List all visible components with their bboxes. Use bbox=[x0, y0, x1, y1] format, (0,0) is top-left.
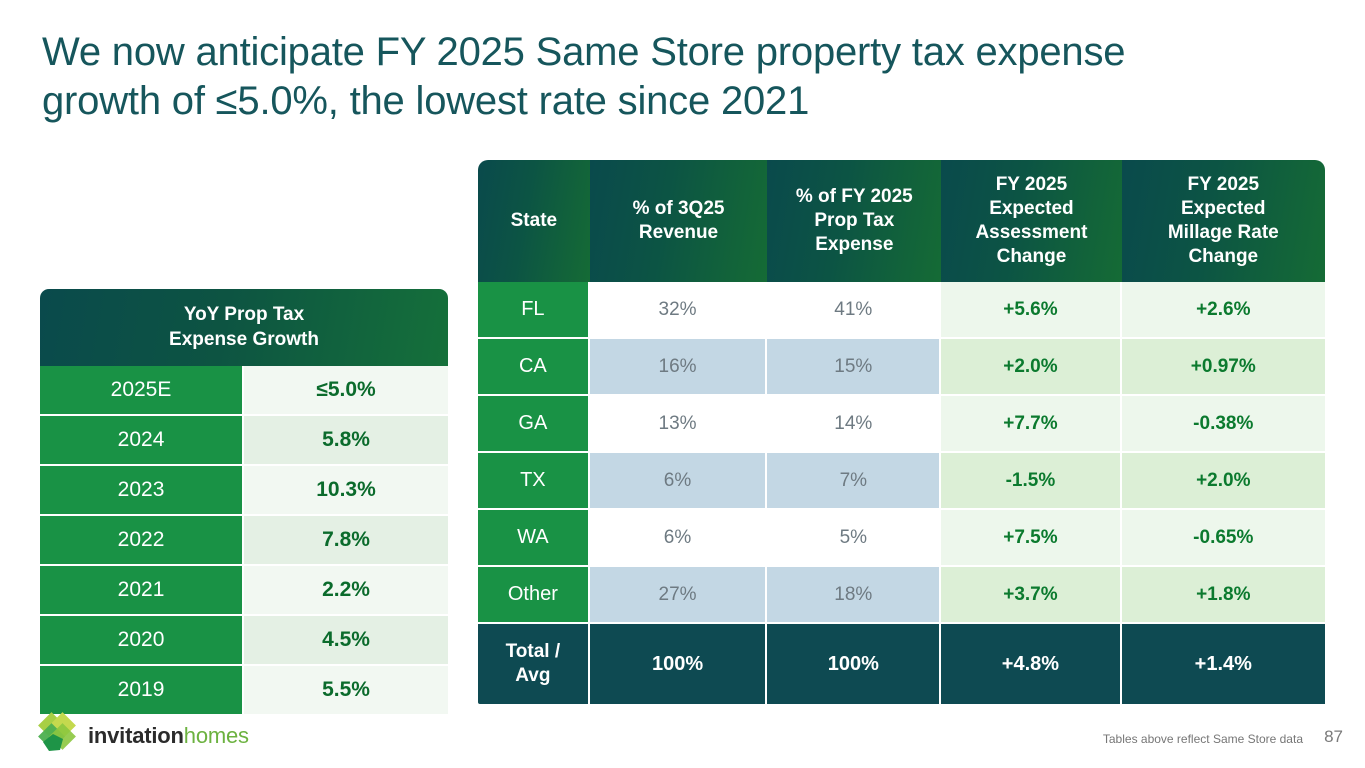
expense-cell: 18% bbox=[767, 567, 941, 624]
assessment-change-cell: +2.0% bbox=[941, 339, 1121, 396]
assessment-change-cell: +7.5% bbox=[941, 510, 1121, 567]
column-header-assessment-line-1: FY 2025 bbox=[947, 173, 1115, 197]
yoy-year-cell: 2024 bbox=[40, 416, 244, 466]
column-header-millage-line-1: FY 2025 bbox=[1128, 173, 1319, 197]
yoy-year-cell: 2020 bbox=[40, 616, 244, 666]
millage-change-cell: +2.6% bbox=[1122, 282, 1325, 339]
yoy-value-cell: 4.5% bbox=[244, 616, 448, 666]
state-cell: CA bbox=[478, 339, 590, 396]
state-prop-tax-table: State % of 3Q25 Revenue % of FY 2025 Pro… bbox=[478, 160, 1325, 704]
column-header-expense-line-2: Prop Tax bbox=[773, 209, 935, 233]
logo-word-homes: homes bbox=[184, 723, 249, 748]
yoy-year-cell: 2025E bbox=[40, 366, 244, 416]
yoy-year-cell: 2022 bbox=[40, 516, 244, 566]
state-cell: TX bbox=[478, 453, 590, 510]
column-header-revenue-line-2: Revenue bbox=[596, 221, 762, 245]
table-row: FL 32% 41% +5.6% +2.6% bbox=[478, 282, 1325, 339]
page-number: 87 bbox=[1324, 727, 1343, 747]
table-row: 2019 5.5% bbox=[40, 666, 448, 714]
total-expense-cell: 100% bbox=[767, 624, 941, 704]
yoy-prop-tax-table: YoY Prop Tax Expense Growth 2025E ≤5.0% … bbox=[40, 289, 448, 714]
column-header-assessment-line-2: Expected bbox=[947, 197, 1115, 221]
millage-change-cell: +0.97% bbox=[1122, 339, 1325, 396]
table-row: GA 13% 14% +7.7% -0.38% bbox=[478, 396, 1325, 453]
table-row: CA 16% 15% +2.0% +0.97% bbox=[478, 339, 1325, 396]
yoy-year-cell: 2021 bbox=[40, 566, 244, 616]
millage-change-cell: -0.65% bbox=[1122, 510, 1325, 567]
assessment-change-cell: -1.5% bbox=[941, 453, 1121, 510]
millage-change-cell: +1.8% bbox=[1122, 567, 1325, 624]
yoy-year-cell: 2019 bbox=[40, 666, 244, 714]
assessment-change-cell: +7.7% bbox=[941, 396, 1121, 453]
yoy-value-cell: 5.8% bbox=[244, 416, 448, 466]
column-header-assessment-change: FY 2025 Expected Assessment Change bbox=[941, 160, 1121, 282]
total-assessment-cell: +4.8% bbox=[941, 624, 1121, 704]
footnote: Tables above reflect Same Store data bbox=[1103, 732, 1303, 746]
yoy-year-cell: 2023 bbox=[40, 466, 244, 516]
page-title: We now anticipate FY 2025 Same Store pro… bbox=[42, 28, 1272, 126]
yoy-table-header: YoY Prop Tax Expense Growth bbox=[40, 289, 448, 366]
total-revenue-cell: 100% bbox=[590, 624, 768, 704]
table-row: 2022 7.8% bbox=[40, 516, 448, 566]
revenue-cell: 6% bbox=[590, 453, 768, 510]
total-label-line-1: Total / bbox=[479, 640, 587, 664]
millage-change-cell: -0.38% bbox=[1122, 396, 1325, 453]
state-cell: FL bbox=[478, 282, 590, 339]
column-header-assessment-line-3: Assessment bbox=[947, 221, 1115, 245]
table-row: Other 27% 18% +3.7% +1.8% bbox=[478, 567, 1325, 624]
table-row: 2024 5.8% bbox=[40, 416, 448, 466]
revenue-cell: 6% bbox=[590, 510, 768, 567]
column-header-assessment-line-4: Change bbox=[947, 245, 1115, 269]
table-header-row: YoY Prop Tax Expense Growth bbox=[40, 289, 448, 366]
column-header-millage-line-3: Millage Rate bbox=[1128, 221, 1319, 245]
revenue-cell: 16% bbox=[590, 339, 768, 396]
yoy-value-cell: ≤5.0% bbox=[244, 366, 448, 416]
state-cell: Other bbox=[478, 567, 590, 624]
yoy-value-cell: 5.5% bbox=[244, 666, 448, 714]
table-header-row: State % of 3Q25 Revenue % of FY 2025 Pro… bbox=[478, 160, 1325, 282]
table-row: 2020 4.5% bbox=[40, 616, 448, 666]
company-logo: invitationhomes bbox=[32, 712, 249, 760]
yoy-table-body: 2025E ≤5.0% 2024 5.8% 2023 10.3% 2022 7.… bbox=[40, 366, 448, 714]
yoy-value-cell: 2.2% bbox=[244, 566, 448, 616]
revenue-cell: 13% bbox=[590, 396, 768, 453]
column-header-revenue-line-1: % of 3Q25 bbox=[596, 197, 762, 221]
table-total-row: Total / Avg 100% 100% +4.8% +1.4% bbox=[478, 624, 1325, 704]
logo-wordmark: invitationhomes bbox=[88, 723, 249, 749]
column-header-expense-line-3: Expense bbox=[773, 233, 935, 257]
page-title-line-1: We now anticipate FY 2025 Same Store pro… bbox=[42, 28, 1272, 77]
millage-change-cell: +2.0% bbox=[1122, 453, 1325, 510]
yoy-value-cell: 7.8% bbox=[244, 516, 448, 566]
total-label-cell: Total / Avg bbox=[478, 624, 590, 704]
table-row: 2023 10.3% bbox=[40, 466, 448, 516]
column-header-revenue: % of 3Q25 Revenue bbox=[590, 160, 768, 282]
assessment-change-cell: +3.7% bbox=[941, 567, 1121, 624]
column-header-state: State bbox=[478, 160, 590, 282]
table-row: 2025E ≤5.0% bbox=[40, 366, 448, 416]
expense-cell: 5% bbox=[767, 510, 941, 567]
column-header-prop-tax-expense: % of FY 2025 Prop Tax Expense bbox=[767, 160, 941, 282]
state-cell: GA bbox=[478, 396, 590, 453]
column-header-millage-rate-change: FY 2025 Expected Millage Rate Change bbox=[1122, 160, 1325, 282]
yoy-table-header-line-1: YoY Prop Tax bbox=[44, 302, 444, 327]
state-cell: WA bbox=[478, 510, 590, 567]
state-table-body: FL 32% 41% +5.6% +2.6% CA 16% 15% +2.0% … bbox=[478, 282, 1325, 704]
column-header-expense-line-1: % of FY 2025 bbox=[773, 185, 935, 209]
assessment-change-cell: +5.6% bbox=[941, 282, 1121, 339]
total-millage-cell: +1.4% bbox=[1122, 624, 1325, 704]
total-label-line-2: Avg bbox=[479, 664, 587, 688]
expense-cell: 15% bbox=[767, 339, 941, 396]
revenue-cell: 27% bbox=[590, 567, 768, 624]
expense-cell: 7% bbox=[767, 453, 941, 510]
page-title-line-2: growth of ≤5.0%, the lowest rate since 2… bbox=[42, 77, 1272, 126]
logo-word-invitation: invitation bbox=[88, 723, 184, 748]
invitation-homes-logo-icon bbox=[32, 712, 78, 760]
revenue-cell: 32% bbox=[590, 282, 768, 339]
column-header-millage-line-4: Change bbox=[1128, 245, 1319, 269]
expense-cell: 14% bbox=[767, 396, 941, 453]
table-row: WA 6% 5% +7.5% -0.65% bbox=[478, 510, 1325, 567]
expense-cell: 41% bbox=[767, 282, 941, 339]
yoy-value-cell: 10.3% bbox=[244, 466, 448, 516]
yoy-table-header-line-2: Expense Growth bbox=[44, 327, 444, 352]
column-header-millage-line-2: Expected bbox=[1128, 197, 1319, 221]
table-row: 2021 2.2% bbox=[40, 566, 448, 616]
table-row: TX 6% 7% -1.5% +2.0% bbox=[478, 453, 1325, 510]
